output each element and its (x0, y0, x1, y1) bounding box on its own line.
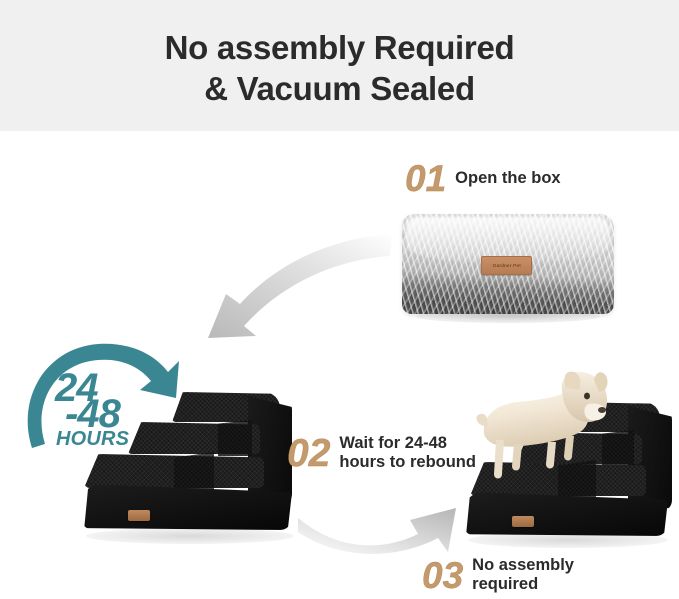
arrow-stairs-to-dog-icon (296, 478, 482, 560)
arrow-box-to-stairs-icon (178, 232, 393, 344)
pet-stairs-left (78, 390, 308, 545)
french-bulldog (466, 370, 611, 505)
dog-rear-leg (512, 444, 522, 471)
infographic-canvas: No assembly Required & Vacuum Sealed 01 … (0, 0, 679, 599)
package-body: Gardner Pet (402, 214, 614, 314)
step-02-label: Wait for 24-48 hours to rebound (339, 434, 476, 472)
stairs-left-shadow (86, 528, 294, 544)
step-02: 02 Wait for 24-48 hours to rebound (287, 434, 476, 472)
dog-hind-leg (564, 436, 574, 461)
stairs-left-riser-middle (218, 420, 252, 456)
dog-front-leg (494, 440, 504, 479)
package-ground-shadow (416, 310, 600, 323)
stairs-left-riser-bottom (174, 452, 214, 492)
headline-line-1: No assembly Required (165, 29, 515, 66)
step-03-label: No assembly required (472, 556, 574, 594)
dog-nose (598, 407, 606, 413)
package-brand-label: Gardner Pet (481, 256, 532, 275)
dog-tail (477, 414, 488, 428)
step-01-number: 01 (405, 160, 446, 197)
package-brand-label-text: Gardner Pet (492, 263, 520, 269)
step-01-label: Open the box (455, 169, 560, 188)
page-title: No assembly Required & Vacuum Sealed (0, 27, 679, 109)
step-01: 01 Open the box (405, 160, 561, 197)
stairs-left-brand-tag (128, 510, 150, 521)
vacuum-sealed-package: Gardner Pet (402, 214, 614, 329)
dog-eye (584, 393, 590, 400)
step-02-number: 02 (287, 435, 330, 472)
step-03: 03 No assembly required (422, 556, 574, 594)
headline-line-2: & Vacuum Sealed (0, 68, 679, 109)
stairs-right-brand-tag (512, 516, 534, 527)
dog-mid-leg (546, 442, 556, 469)
step-03-number: 03 (422, 557, 463, 594)
